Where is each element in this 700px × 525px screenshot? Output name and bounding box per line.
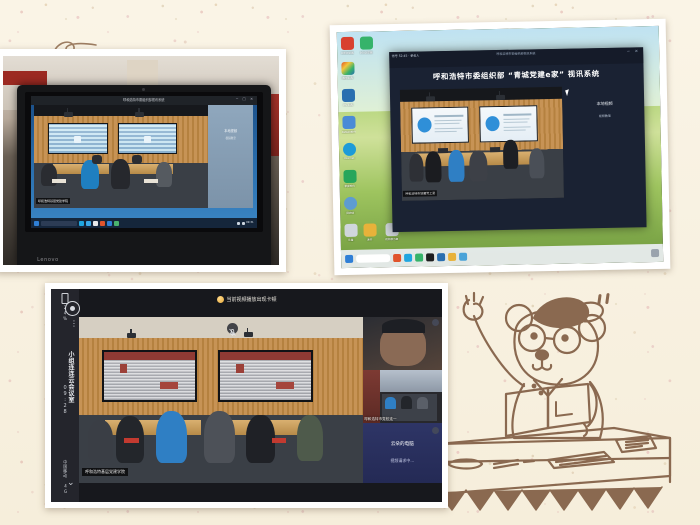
local-video-panel[interactable]: 本地视频 视频教室 (570, 85, 641, 197)
nameplate (144, 179, 158, 183)
hall-screen-right (118, 123, 177, 155)
cloud-tile-name: 云朵的电脑 (391, 441, 414, 447)
hall-scene: 呼和浩特基层党建学院 (34, 105, 208, 208)
taskbar-search-input[interactable] (356, 254, 390, 263)
hall-screen-left (48, 123, 107, 155)
participant-tile-room[interactable]: 呼和浩特市党校连一 (363, 370, 442, 423)
desktop-icon-1[interactable]: 360浏览器 (359, 36, 373, 54)
desktop-icon-4[interactable]: PS 工具 (341, 89, 355, 107)
system-tray-icon[interactable] (651, 249, 659, 257)
participant-tile-face[interactable] (363, 317, 442, 370)
desktop-icon-2[interactable]: 图形工具 (340, 62, 354, 80)
photo-desktop-frame[interactable]: 火炬浏览器 图形工具 PS 工具 ASMAX软件 Internet 录屏软件 回… (330, 19, 671, 275)
start-button-icon[interactable] (34, 221, 39, 226)
cloud-participant-tile[interactable]: 云朵的电脑 视频请求中... (363, 423, 442, 483)
playback-warning-toast: 当前视频播放出现卡顿 (216, 296, 276, 303)
video-caption: 呼和浩特市姇属党工委 (403, 190, 437, 197)
projector-left-icon (64, 112, 73, 117)
desktop-icon-5[interactable]: ASMAX软件 (341, 116, 355, 134)
photo-phone-image: 24% 09:28 中国移动 4G 小组连连云会议室 ⋮ ⌄ 当前视频播放出现卡… (51, 289, 442, 502)
attendee (156, 411, 187, 462)
edge-icon[interactable] (86, 221, 91, 226)
red-sign-left (3, 71, 47, 86)
warning-dot-icon (216, 296, 223, 303)
app-titlebar: 信号 52:45 · 参会人 呼和浩特市委组织部视讯系统 ─ ✕ (389, 47, 644, 68)
local-video-label: 本地视频 (597, 101, 613, 107)
attendee (469, 150, 488, 181)
taskbar-search-input[interactable] (41, 221, 77, 226)
tile-badge-icon (432, 427, 439, 434)
projector-right-icon (135, 112, 144, 117)
attendee (425, 151, 442, 182)
laptop-body: 呼和浩特市委组织部视讯系统 ─ □ ✕ (17, 85, 271, 265)
video-stage: 呼和浩特市姇属党工委 (400, 87, 565, 201)
local-video-sub: 视频教室 (225, 136, 235, 140)
hall-ceiling (34, 105, 208, 116)
taskbar-app-icon[interactable] (459, 253, 467, 261)
cloud-tile-status: 视频请求中... (390, 458, 414, 464)
monitor (438, 148, 448, 154)
hall-scene: 呼和浩特基层党建学院 (79, 317, 362, 483)
projector-right-icon (244, 332, 253, 337)
participant-side-column[interactable]: 呼和浩特市党校连一 云朵的电脑 视频请求中... (363, 317, 442, 483)
local-video-sub: 视频教室 (599, 114, 611, 118)
video-caption: 呼和浩特基层党建学院 (36, 198, 70, 204)
app-icon[interactable] (100, 221, 105, 226)
tray-icon[interactable] (237, 222, 240, 225)
photo-desktop-image: 火炬浏览器 图形工具 PS 工具 ASMAX软件 Internet 录屏软件 回… (337, 26, 663, 268)
mic-muted-icon[interactable] (227, 323, 238, 334)
app-heading: 呼和浩特市委组织部 “青城党建e家” 视讯系统 (433, 68, 600, 82)
tile-badge-icon (432, 319, 439, 326)
nameplate (52, 179, 66, 183)
nameplate (124, 438, 138, 443)
taskbar-app-icon[interactable] (448, 253, 456, 261)
app-window-title: 呼和浩特市委组织部视讯系统 (496, 51, 535, 56)
projector-right-icon (496, 94, 505, 99)
taskbar-app-icon[interactable] (426, 253, 434, 261)
hall-scene: 呼和浩特市姇属党工委 (400, 87, 565, 201)
monitor (132, 155, 142, 163)
attendee (81, 160, 98, 190)
taskbar-app-icon[interactable] (404, 254, 412, 262)
hall-screen-left (102, 350, 197, 402)
webcam-icon (142, 88, 145, 91)
toast-text: 当前视频播放出现卡顿 (226, 296, 276, 303)
more-vertical-icon[interactable]: ⋮ (70, 322, 78, 325)
attendee (448, 150, 465, 183)
nameplate (272, 438, 286, 443)
attendee (88, 420, 114, 462)
main-video-caption: 呼和浩特基层党建学院 (82, 468, 128, 476)
taskbar-app-icon[interactable] (393, 254, 401, 262)
app-status-left: 信号 52:45 · 参会人 (392, 53, 420, 58)
presenter (503, 140, 518, 169)
app-titlebar: 呼和浩特市委组织部视讯系统 ─ □ ✕ (31, 96, 257, 105)
projector-left-icon (426, 96, 435, 101)
attendee (246, 415, 274, 463)
app-icon[interactable] (107, 221, 112, 226)
desktop-icon-0[interactable]: 火炬浏览器 (340, 37, 354, 55)
hall-screen-right (480, 105, 538, 143)
desktop-icon-11[interactable]: 课件 (362, 223, 376, 241)
attendee (529, 148, 544, 178)
hall-screen-right (218, 350, 313, 402)
projector-left-icon (127, 333, 136, 338)
desktop-icon-9[interactable]: 回收站 (343, 197, 357, 215)
tile-caption: 呼和浩特市党校连一 (364, 417, 396, 422)
laptop-bezel: 呼和浩特市委组织部视讯系统 ─ □ ✕ (25, 92, 263, 232)
tray-icon[interactable] (242, 222, 245, 225)
desk-left (415, 153, 474, 166)
main-video-tile[interactable]: 呼和浩特基层党建学院 (79, 317, 362, 483)
record-circle-icon[interactable] (65, 301, 80, 316)
desktop-icon-10[interactable]: 云盘 (343, 224, 357, 242)
local-video-panel[interactable]: 本地视频 视频教室 (208, 105, 253, 208)
attendee (297, 415, 323, 462)
explorer-icon[interactable] (93, 221, 98, 226)
app-icon[interactable] (114, 221, 119, 226)
desktop-icon-8[interactable]: 录屏软件 (342, 170, 356, 188)
hall-ceiling (79, 317, 362, 339)
window-controls[interactable]: ─ □ ✕ (236, 97, 255, 101)
monitor (92, 155, 102, 163)
system-tray[interactable]: 09:31 (237, 222, 253, 225)
laptop-screen: 呼和浩特市委组织部视讯系统 ─ □ ✕ (31, 96, 257, 228)
meeting-room-title: 小组连连云会议室 (66, 351, 75, 403)
hall-screen-left (411, 106, 469, 144)
photo-laptop-frame[interactable]: 呼和浩特市委组织部视讯系统 ─ □ ✕ (0, 49, 286, 272)
monitor (490, 147, 500, 153)
video-stage: 呼和浩特基层党建学院 (34, 105, 208, 208)
photo-laptop-image: 呼和浩特市委组织部视讯系统 ─ □ ✕ (3, 56, 279, 265)
chevron-down-icon[interactable]: ⌄ (67, 478, 75, 488)
laptop-brand-label: Lenovo (37, 257, 59, 263)
windows-taskbar[interactable]: 09:31 (31, 218, 257, 227)
taskbar-app-icon[interactable] (437, 253, 445, 261)
videoconference-app-window[interactable]: 信号 52:45 · 参会人 呼和浩特市委组织部视讯系统 ─ ✕ 呼和浩特市委组… (389, 47, 647, 231)
attendee (409, 154, 424, 182)
taskbar-clock: 09:31 (246, 222, 253, 225)
carrier-label: 中国移动 4G (62, 460, 68, 495)
photo-phone-frame[interactable]: 24% 09:28 中国移动 4G 小组连连云会议室 ⋮ ⌄ 当前视频播放出现卡… (45, 283, 448, 508)
desktop-icon-7[interactable]: Internet (342, 143, 356, 160)
taskview-icon[interactable] (79, 221, 84, 226)
local-video-label: 本地视频 (224, 128, 237, 133)
window-controls[interactable]: ─ ✕ (627, 49, 640, 54)
attendee (156, 162, 172, 188)
attendee (204, 411, 235, 462)
start-button-icon[interactable] (345, 255, 353, 263)
attendee (111, 159, 130, 190)
bear-reading-illustration (438, 276, 700, 525)
taskbar-app-icon[interactable] (415, 254, 423, 262)
app-window-title: 呼和浩特市委组织部视讯系统 (123, 97, 164, 102)
